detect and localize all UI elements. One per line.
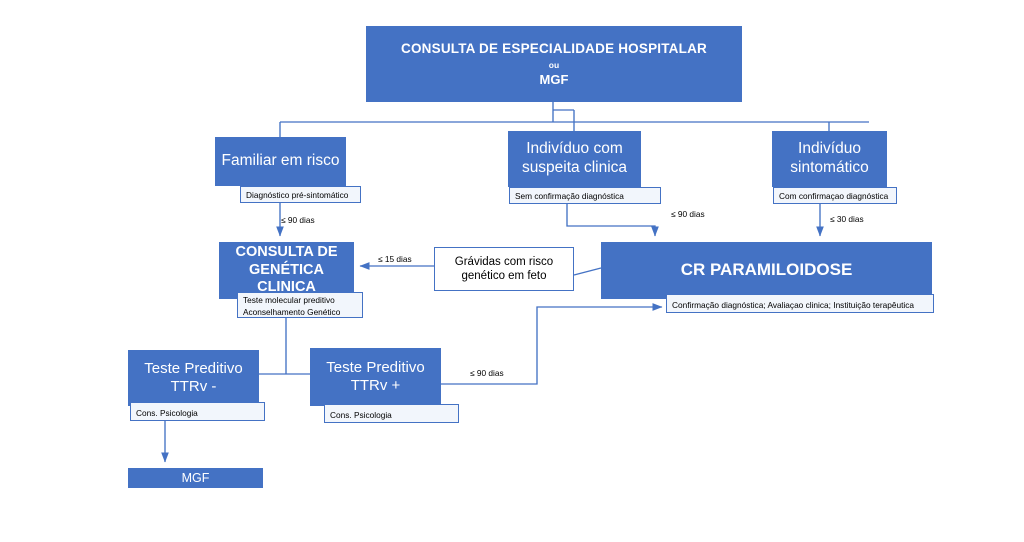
node-familiar-em-risco[interactable]: Familiar em risco [215,137,346,186]
flowchart-canvas: CONSULTA DE ESPECIALIDADE HOSPITALAR ou … [0,0,1024,542]
edge-label-suspeita-to-cr: ≤ 90 dias [671,209,705,219]
node-consulta-genetica-clinica[interactable]: CONSULTA DE GENÉTICA CLINICA [219,242,354,299]
strip-genetica-line2: Aconselhamento Genético [243,306,358,318]
node-teste-preditivo-ttrv-positivo[interactable]: Teste Preditivo TTRv + [310,348,441,406]
node-mgf[interactable]: MGF [128,468,263,488]
node-gravidas-risco-genetico[interactable]: Grávidas com risco genético em feto [434,247,574,291]
node-individuo-sintomatico[interactable]: Indivíduo sintomático [772,131,887,187]
node-ttrvneg-label: Teste Preditivo TTRv - [128,360,259,396]
edge-label-sintomatico-to-cr: ≤ 30 dias [830,214,864,224]
strip-cr-detalhes: Confirmação diagnóstica; Avaliaçao clini… [666,294,934,313]
strip-sem-confirmacao-diagnostica: Sem confirmação diagnóstica [509,187,661,204]
edge-label-gravidas-to-genetica: ≤ 15 dias [378,254,412,264]
node-consulta-especialidade[interactable]: CONSULTA DE ESPECIALIDADE HOSPITALAR ou … [366,26,742,102]
edge-gravidas-to-cr [574,268,601,275]
node-top-line1: CONSULTA DE ESPECIALIDADE HOSPITALAR [366,41,742,57]
edge-suspeita-to-cr [567,204,655,236]
node-cr-label: CR PARAMILOIDOSE [601,260,932,280]
strip-cons-psicologia-negativo: Cons. Psicologia [130,402,265,421]
node-mgf-label: MGF [128,471,263,486]
strip-cons-psicologia-positivo: Cons. Psicologia [324,404,459,423]
node-ttrvpos-label: Teste Preditivo TTRv + [310,359,441,395]
node-cr-paramiloidose[interactable]: CR PARAMILOIDOSE [601,242,932,299]
node-teste-preditivo-ttrv-negativo[interactable]: Teste Preditivo TTRv - [128,350,259,406]
node-genetica-label: CONSULTA DE GENÉTICA CLINICA [219,244,354,296]
node-top-line3: MGF [366,72,742,88]
node-suspeita-label: Indivíduo com suspeita clinica [508,140,641,177]
node-sintomatico-label: Indivíduo sintomático [772,140,887,177]
strip-com-confirmacao-diagnostica: Com confirmaçao diagnóstica [773,187,897,204]
strip-diagnostico-pre-sintomatico: Diagnóstico pré-sintomático [240,186,361,203]
node-gravidas-label: Grávidas com risco genético em feto [435,255,573,284]
strip-genetica-detalhes: Teste molecular preditivo Aconselhamento… [237,292,363,318]
node-top-line2: ou [366,60,742,70]
edge-label-familiar-to-genetica: ≤ 90 dias [281,215,315,225]
node-familiar-label: Familiar em risco [215,152,346,171]
node-individuo-suspeita-clinica[interactable]: Indivíduo com suspeita clinica [508,131,641,187]
strip-genetica-line1: Teste molecular preditivo [243,294,358,306]
edge-label-ttrvpos-to-cr: ≤ 90 dias [470,368,504,378]
